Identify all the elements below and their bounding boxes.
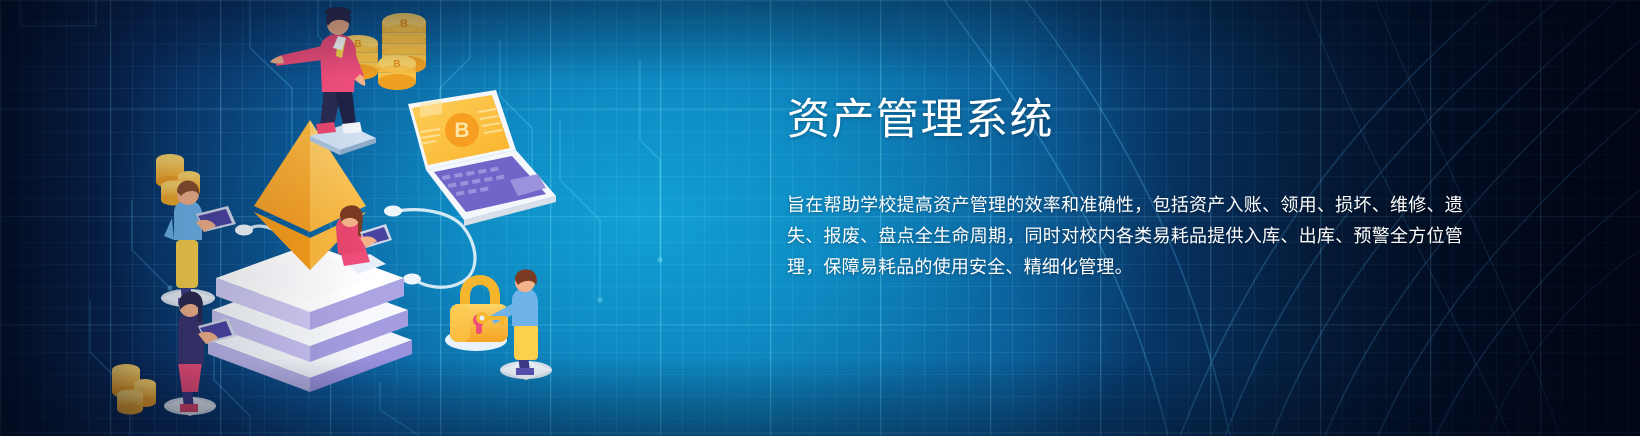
asset-management-banner: B B B [0, 0, 1640, 436]
page-description: 旨在帮助学校提高资产管理的效率和准确性，包括资产入账、领用、损坏、维修、遗失、报… [787, 190, 1463, 283]
page-title: 资产管理系统 [787, 96, 1487, 146]
banner-text-block: 资产管理系统 旨在帮助学校提高资产管理的效率和准确性，包括资产入账、领用、损坏、… [787, 96, 1487, 283]
